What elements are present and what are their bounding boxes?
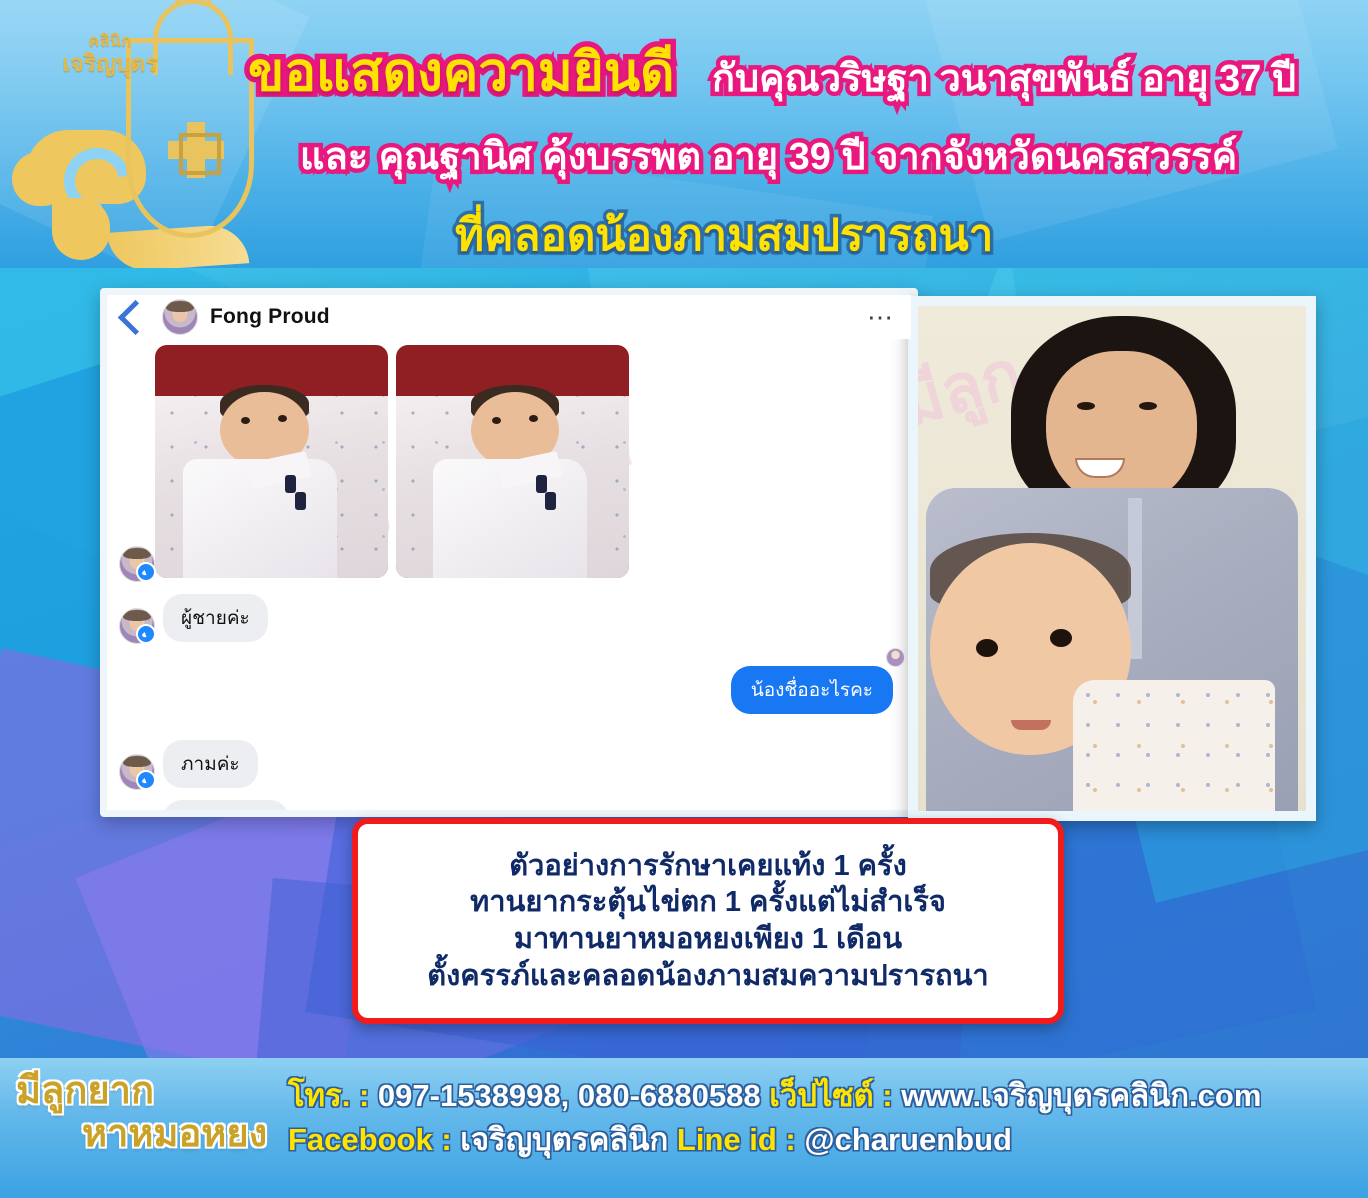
read-receipt-avatar (886, 648, 905, 667)
medical-cross-icon (168, 122, 224, 178)
treatment-summary-box: ตัวอย่างการรักษาเคยแท้ง 1 ครั้ง ทานยากระ… (352, 818, 1064, 1024)
slogan-line-1: มีลูกยาก (16, 1070, 286, 1113)
headline-sub-2: และ คุณฐานิศ คุ้งบรรพต อายุ 39 ปี จากจัง… (300, 125, 1237, 186)
avatar (119, 754, 153, 788)
facebook-label: Facebook : (288, 1122, 452, 1157)
messenger-badge-icon (136, 770, 156, 790)
chat-header: Fong Proud ⋯ (107, 295, 911, 339)
messenger-badge-icon (136, 562, 156, 582)
clinic-logo: คลินิก เจริญบุตร (8, 12, 258, 262)
treatment-line-4: ตั้งครรภ์และคลอดน้องภามสมความปรารถนา (427, 958, 988, 995)
footer-row-2: Facebook : เจริญบุตรคลินิก Line id : @ch… (288, 1118, 1358, 1162)
footer-slogan: มีลูกยาก หาหมอหยง (16, 1070, 286, 1155)
baby-photo-1[interactable] (155, 345, 388, 578)
logo-line2: เจริญบุตร (50, 51, 170, 75)
treatment-line-1: ตัวอย่างการรักษาเคยแท้ง 1 ครั้ง (509, 848, 907, 885)
more-options-icon[interactable]: ⋯ (867, 312, 895, 322)
avatar (119, 546, 153, 580)
phone-value[interactable]: 097-1538998, 080-6880588 (378, 1078, 761, 1113)
mother-and-baby-photo: มีลูก (908, 296, 1316, 821)
logo-line1: คลินิก (50, 34, 170, 51)
message-bubble-incoming[interactable]: ขอบคุณค่ะ (163, 800, 289, 817)
header-banner: คลินิก เจริญบุตร ขอแสดงความยินดี กับคุณว… (0, 0, 1368, 268)
contact-avatar[interactable] (162, 299, 198, 335)
photo-attachment-row (107, 339, 911, 578)
footer-row-1: โทร. : 097-1538998, 080-6880588 เว็ปไซต์… (288, 1074, 1358, 1118)
message-row: น้องชื่ออะไรคะ (107, 666, 911, 714)
poster-root: คลินิก เจริญบุตร ขอแสดงความยินดี กับคุณว… (0, 0, 1368, 1198)
message-bubble-outgoing[interactable]: น้องชื่ออะไรคะ (731, 666, 893, 714)
treatment-line-3: มาทานยาหมอหยงเพียง 1 เดือน (514, 921, 902, 958)
avatar (119, 608, 153, 642)
slogan-line-2: หาหมอหยง (16, 1113, 286, 1156)
avatar (119, 814, 153, 817)
chat-screenshot-card: ตรคลินิก Fong Proud ⋯ (100, 288, 918, 817)
headline-sub-1: กับคุณวริษฐา วนาสุขพันธ์ อายุ 37 ปี (712, 47, 1296, 108)
message-row: ขอบคุณค่ะ (107, 800, 911, 817)
contact-name: Fong Proud (210, 305, 330, 329)
phone-label: โทร. : (288, 1078, 369, 1113)
message-row-photo-sender (107, 546, 911, 580)
baby-photo-2[interactable] (396, 345, 629, 578)
message-row: ภามค่ะ (107, 740, 911, 788)
message-bubble-incoming[interactable]: ภามค่ะ (163, 740, 258, 788)
messenger-badge-icon (136, 624, 156, 644)
back-chevron-icon[interactable] (118, 299, 153, 334)
footer-contact-bar: มีลูกยาก หาหมอหยง โทร. : 097-1538998, 08… (0, 1058, 1368, 1198)
line-value[interactable]: @charuenbud (804, 1122, 1012, 1157)
website-value[interactable]: www.เจริญบุตรคลินิก.com (901, 1078, 1261, 1113)
logo-text: คลินิก เจริญบุตร (50, 34, 170, 75)
headline-sub-3: ที่คลอดน้องภามสมปรารถนา (455, 200, 993, 268)
line-label: Line id : (677, 1122, 796, 1157)
message-bubble-incoming[interactable]: ผู้ชายค่ะ (163, 594, 268, 642)
website-label: เว็ปไซต์ : (769, 1078, 892, 1113)
facebook-value[interactable]: เจริญบุตรคลินิก (460, 1122, 668, 1157)
headline-main: ขอแสดงความยินดี (248, 30, 674, 114)
message-row: ผู้ชายค่ะ (107, 594, 911, 642)
cloud-hook-icon (52, 198, 110, 260)
treatment-line-2: ทานยากระตุ้นไข่ตก 1 ครั้งแต่ไม่สำเร็จ (470, 884, 946, 921)
